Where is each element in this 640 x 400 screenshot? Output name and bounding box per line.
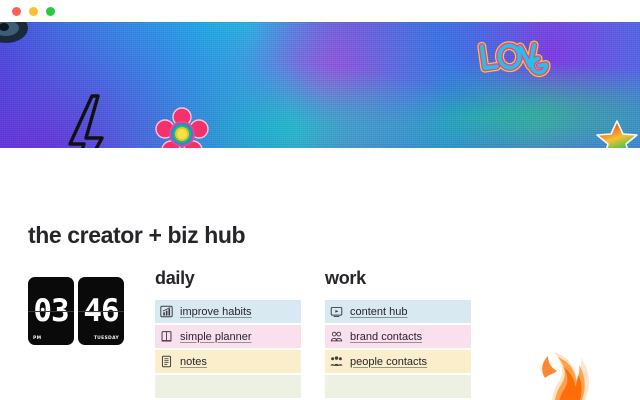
page-title: the creator + biz hub (28, 222, 245, 249)
love-sticker[interactable] (474, 32, 554, 93)
hero-banner (0, 22, 640, 148)
maximize-button[interactable] (46, 7, 55, 16)
column-daily: daily improve habits (155, 268, 301, 400)
list-item[interactable]: simple planner (155, 325, 301, 348)
list-item[interactable]: notes (155, 350, 301, 373)
list-item[interactable]: brand contacts (325, 325, 471, 348)
list-item[interactable]: people contacts (325, 350, 471, 373)
list-item[interactable]: improve habits (155, 300, 301, 323)
traffic-lights (12, 7, 55, 16)
minimize-button[interactable] (29, 7, 38, 16)
clock-hours-card: 03 PM (28, 277, 74, 345)
column-work: work content hub br (325, 268, 471, 400)
list-item-label: brand contacts (350, 331, 422, 343)
column-heading-work: work (325, 268, 471, 289)
flame-illustration (510, 326, 606, 400)
clock-card-seam (28, 311, 74, 312)
list-item-label: notes (180, 356, 207, 368)
list-item-label: content hub (350, 306, 408, 318)
column-heading-daily: daily (155, 268, 301, 289)
clock-minutes-card: 46 TUESDAY (78, 277, 124, 345)
list-item-label: people contacts (350, 356, 427, 368)
tv-play-icon (330, 305, 343, 318)
clock-card-seam (78, 311, 124, 312)
close-button[interactable] (12, 7, 21, 16)
list-item-label: improve habits (180, 306, 252, 318)
document-icon (160, 355, 173, 368)
chart-growth-icon (160, 305, 173, 318)
people-icon (330, 355, 343, 368)
flip-clock-widget: 03 PM 46 TUESDAY (28, 277, 124, 345)
list-item[interactable]: content hub (325, 300, 471, 323)
window-titlebar (0, 0, 640, 22)
list-item-label: simple planner (180, 331, 252, 343)
open-book-icon (160, 330, 173, 343)
group-icon (330, 330, 343, 343)
page-content: the creator + biz hub 03 PM 46 TUESDAY d… (0, 148, 640, 400)
clock-meridiem: PM (33, 336, 41, 341)
list-item[interactable] (155, 375, 301, 398)
clock-weekday: TUESDAY (94, 336, 119, 341)
list-item[interactable] (325, 375, 471, 398)
